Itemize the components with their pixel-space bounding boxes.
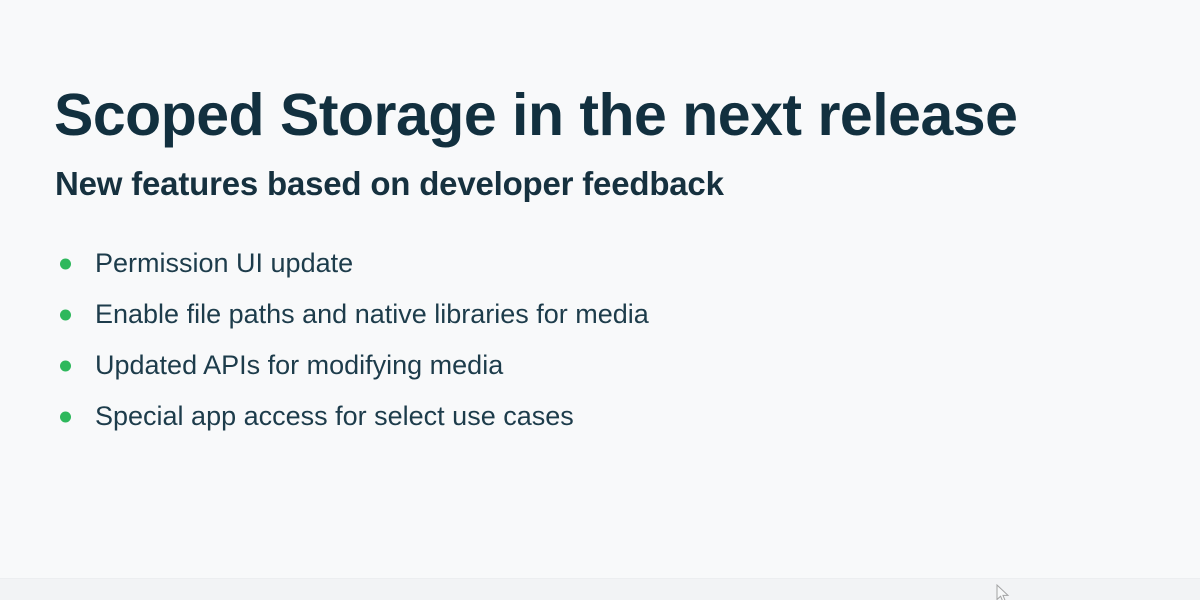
page-title: Scoped Storage in the next release — [54, 84, 1154, 147]
list-item-label: Updated APIs for modifying media — [95, 349, 503, 381]
list-item: Permission UI update — [55, 238, 1135, 289]
bullet-dot-icon — [60, 258, 71, 269]
slide-bottom-edge — [0, 578, 1200, 600]
list-item: Enable file paths and native libraries f… — [55, 289, 1135, 340]
list-item-label: Special app access for select use cases — [95, 400, 574, 432]
list-item-label: Permission UI update — [95, 247, 353, 279]
bullet-dot-icon — [60, 360, 71, 371]
list-item: Updated APIs for modifying media — [55, 340, 1135, 391]
bullet-dot-icon — [60, 309, 71, 320]
feature-bullet-list: Permission UI update Enable file paths a… — [55, 238, 1135, 442]
list-item: Special app access for select use cases — [55, 391, 1135, 442]
bullet-dot-icon — [60, 411, 71, 422]
list-item-label: Enable file paths and native libraries f… — [95, 298, 649, 330]
presentation-slide: Scoped Storage in the next release New f… — [0, 0, 1200, 600]
page-subtitle: New features based on developer feedback — [55, 164, 1115, 204]
